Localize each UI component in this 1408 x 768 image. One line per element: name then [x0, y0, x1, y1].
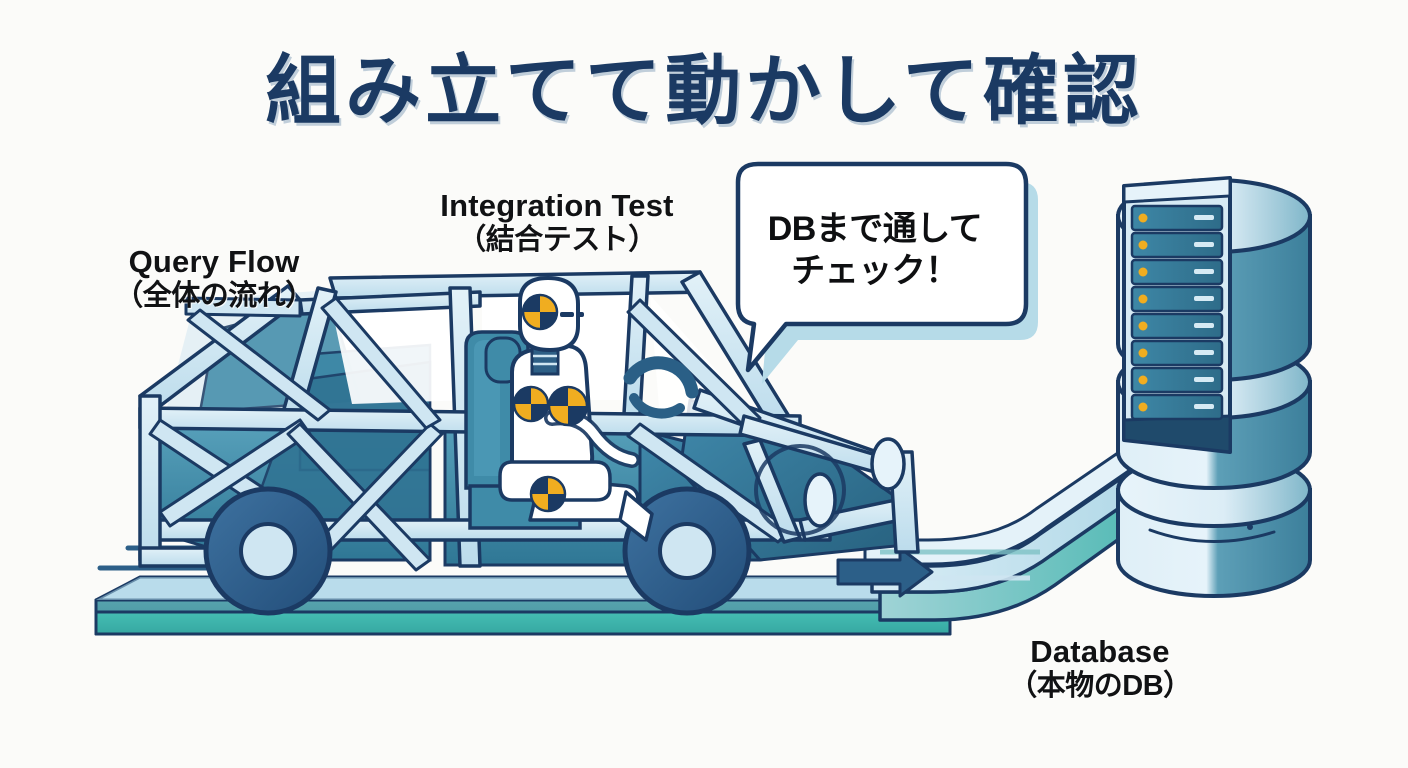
- database-stack: [1118, 178, 1310, 596]
- label-database-jp: （本物のDB）: [960, 671, 1240, 701]
- label-database: Database （本物のDB）: [960, 636, 1240, 701]
- label-query-flow-jp: （全体の流れ）: [74, 281, 354, 311]
- label-database-en: Database: [960, 636, 1240, 668]
- label-query-flow-en: Query Flow: [74, 246, 354, 278]
- speech-bubble-line-2: チェック！: [740, 250, 1010, 292]
- label-integration-test-en: Integration Test: [392, 190, 722, 222]
- label-integration-test: Integration Test （結合テスト）: [392, 190, 722, 255]
- rear-wheel: [206, 489, 330, 613]
- speech-bubble-text: DBまで通して チェック！: [740, 208, 1010, 292]
- label-integration-test-jp: （結合テスト）: [392, 225, 722, 255]
- page-title: 組み立てて動かして確認: [0, 29, 1408, 139]
- speech-bubble-line-1: DBまで通して: [740, 208, 1010, 250]
- illustration-canvas: 組み立てて動かして確認 Query Flow （全体の流れ） Integrati…: [0, 0, 1408, 768]
- label-query-flow: Query Flow （全体の流れ）: [74, 246, 354, 311]
